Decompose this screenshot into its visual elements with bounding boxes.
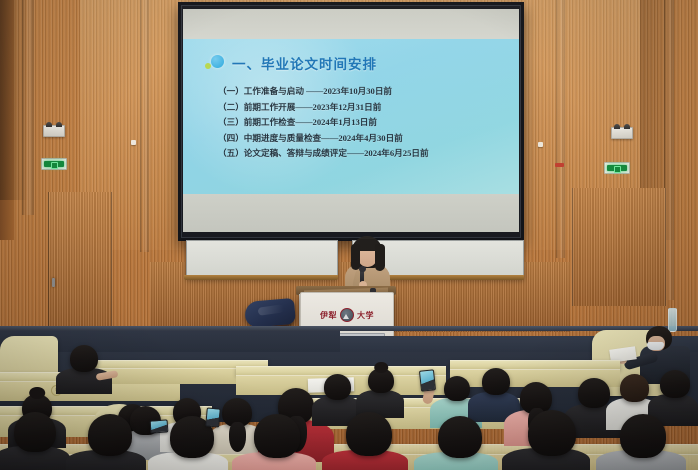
attendee-head [660, 370, 690, 398]
door-handle-left[interactable] [52, 278, 55, 287]
screen-letterbox-bottom [183, 194, 519, 232]
slide-bullet-decoration-icon [205, 54, 225, 72]
exit-sign-glyph [44, 161, 64, 167]
lecture-hall-photo: 一、毕业论文时间安排 （一）工作准备与启动 ——2023年10月30日前 （二）… [0, 0, 698, 470]
attendee-head-foreground [528, 410, 576, 456]
podium-branding: 伊犁 大学 [301, 307, 393, 323]
smartphone-camera[interactable] [205, 407, 221, 427]
attendee-ponytail [229, 422, 246, 452]
attendee-head-foreground [346, 412, 392, 456]
smartphone-camera[interactable] [419, 369, 436, 391]
stage-edge-highlight [0, 326, 698, 331]
smartphone-camera[interactable] [150, 419, 169, 433]
slide-line-5: （五）论文定稿、答辩与成绩评定——2024年6月25日前 [218, 149, 509, 158]
speaker-hair-left [351, 244, 360, 270]
attendee-head [482, 368, 510, 395]
podium-text-right: 大学 [357, 310, 374, 321]
attendee-head-foreground [14, 412, 56, 452]
slide-line-4: （四）中期进度与质量检查——2024年4月30日前 [218, 134, 509, 143]
attendee-head [620, 374, 649, 402]
attendee-head-foreground [254, 414, 300, 458]
slide-bullet-list: （一）工作准备与启动 ——2023年10月30日前 （二）前期工作开展——202… [218, 87, 509, 158]
slide-title: 一、毕业论文时间安排 [232, 53, 377, 73]
exit-sign-left [41, 158, 67, 170]
whiteboard-tray-left [184, 275, 338, 280]
note-taker-head [646, 326, 672, 350]
attendee-head [444, 376, 470, 401]
green-dot-icon [205, 63, 211, 69]
wall-pilaster-center-left [140, 0, 149, 252]
slide-line-1: （一）工作准备与启动 ——2023年10月30日前 [218, 87, 509, 96]
slide-line-3: （三）前期工作检查——2024年1月13日前 [218, 118, 509, 127]
emergency-light-left [43, 125, 65, 137]
presentation-slide: 一、毕业论文时间安排 （一）工作准备与启动 ——2023年10月30日前 （二）… [183, 39, 519, 194]
wall-marker-red [555, 163, 564, 167]
attendee-head-foreground [88, 414, 132, 456]
screen-surface: 一、毕业论文时间安排 （一）工作准备与启动 ——2023年10月30日前 （二）… [183, 9, 519, 232]
wall-shadow-left [0, 0, 40, 200]
slide-line-2: （二）前期工作开展——2023年12月31日前 [218, 103, 509, 112]
podium-text-left: 伊犁 [320, 310, 337, 321]
door-right[interactable] [572, 188, 666, 306]
microphone-head-icon [359, 266, 366, 272]
screen-letterbox-top [183, 9, 519, 39]
door-left[interactable] [48, 192, 112, 337]
university-crest-icon [340, 308, 354, 322]
wall-fitting-left [131, 140, 136, 145]
face-mask [647, 342, 664, 350]
attendee-head-foreground [438, 416, 482, 458]
speaker-hair-right [375, 244, 385, 271]
attendee-head [324, 374, 351, 400]
attendee-head [70, 345, 98, 372]
wall-fitting-right [538, 142, 543, 147]
attendee-head [578, 378, 610, 408]
blue-circle-icon [211, 55, 224, 68]
exit-sign-right [604, 162, 630, 174]
attendee-head [368, 368, 394, 393]
attendee-head-foreground [620, 414, 666, 458]
projection-screen: 一、毕业论文时间安排 （一）工作准备与启动 ——2023年10月30日前 （二）… [178, 2, 524, 241]
wall-pilaster-center-right [556, 0, 565, 258]
slide-heading-row: 一、毕业论文时间安排 [205, 53, 377, 73]
emergency-light-right [611, 127, 633, 139]
whiteboard-left [186, 240, 338, 278]
exit-sign-glyph [607, 165, 627, 171]
